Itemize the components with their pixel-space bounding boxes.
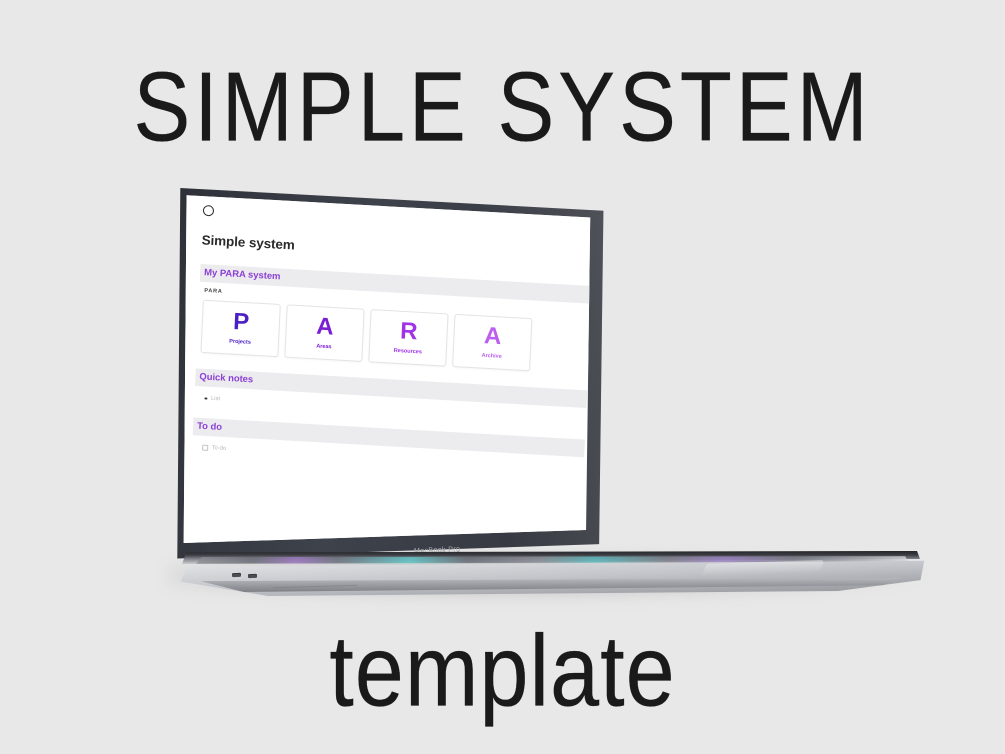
bullet-icon bbox=[204, 397, 207, 400]
list-item-text: List bbox=[211, 396, 220, 402]
para-card-areas[interactable]: A Areas bbox=[284, 304, 364, 362]
para-card-label: Projects bbox=[229, 338, 251, 345]
para-card-label: Resources bbox=[394, 348, 422, 355]
section-quick-notes: Quick notes List bbox=[194, 368, 577, 425]
section-to-do: To do To-do bbox=[192, 418, 575, 475]
usb-c-port-icon bbox=[232, 573, 241, 577]
para-card-label: Archive bbox=[481, 353, 501, 360]
circle-icon[interactable] bbox=[203, 205, 214, 216]
para-card-label: Areas bbox=[316, 343, 332, 350]
poster-headline-bottom: template bbox=[20, 614, 985, 730]
para-card-letter: P bbox=[233, 311, 250, 334]
para-card-letter: A bbox=[484, 326, 502, 349]
app-window: Simple system My PARA system PARA P Proj… bbox=[182, 188, 595, 548]
para-card-projects[interactable]: P Projects bbox=[200, 300, 280, 358]
laptop-display: Simple system My PARA system PARA P Proj… bbox=[182, 188, 596, 548]
poster-headline-top: SIMPLE SYSTEM bbox=[15, 50, 990, 164]
checkbox-icon[interactable] bbox=[202, 445, 208, 451]
para-card-resources[interactable]: R Resources bbox=[368, 309, 448, 367]
page-title: Simple system bbox=[201, 233, 583, 269]
para-card-letter: A bbox=[316, 316, 334, 339]
section-para: My PARA system PARA P Projects A Areas bbox=[196, 264, 581, 374]
para-card-letter: R bbox=[400, 321, 418, 344]
list-item-text: To-do bbox=[212, 445, 227, 452]
usb-c-port-icon bbox=[248, 573, 257, 577]
para-card-archive[interactable]: A Archive bbox=[452, 314, 532, 372]
